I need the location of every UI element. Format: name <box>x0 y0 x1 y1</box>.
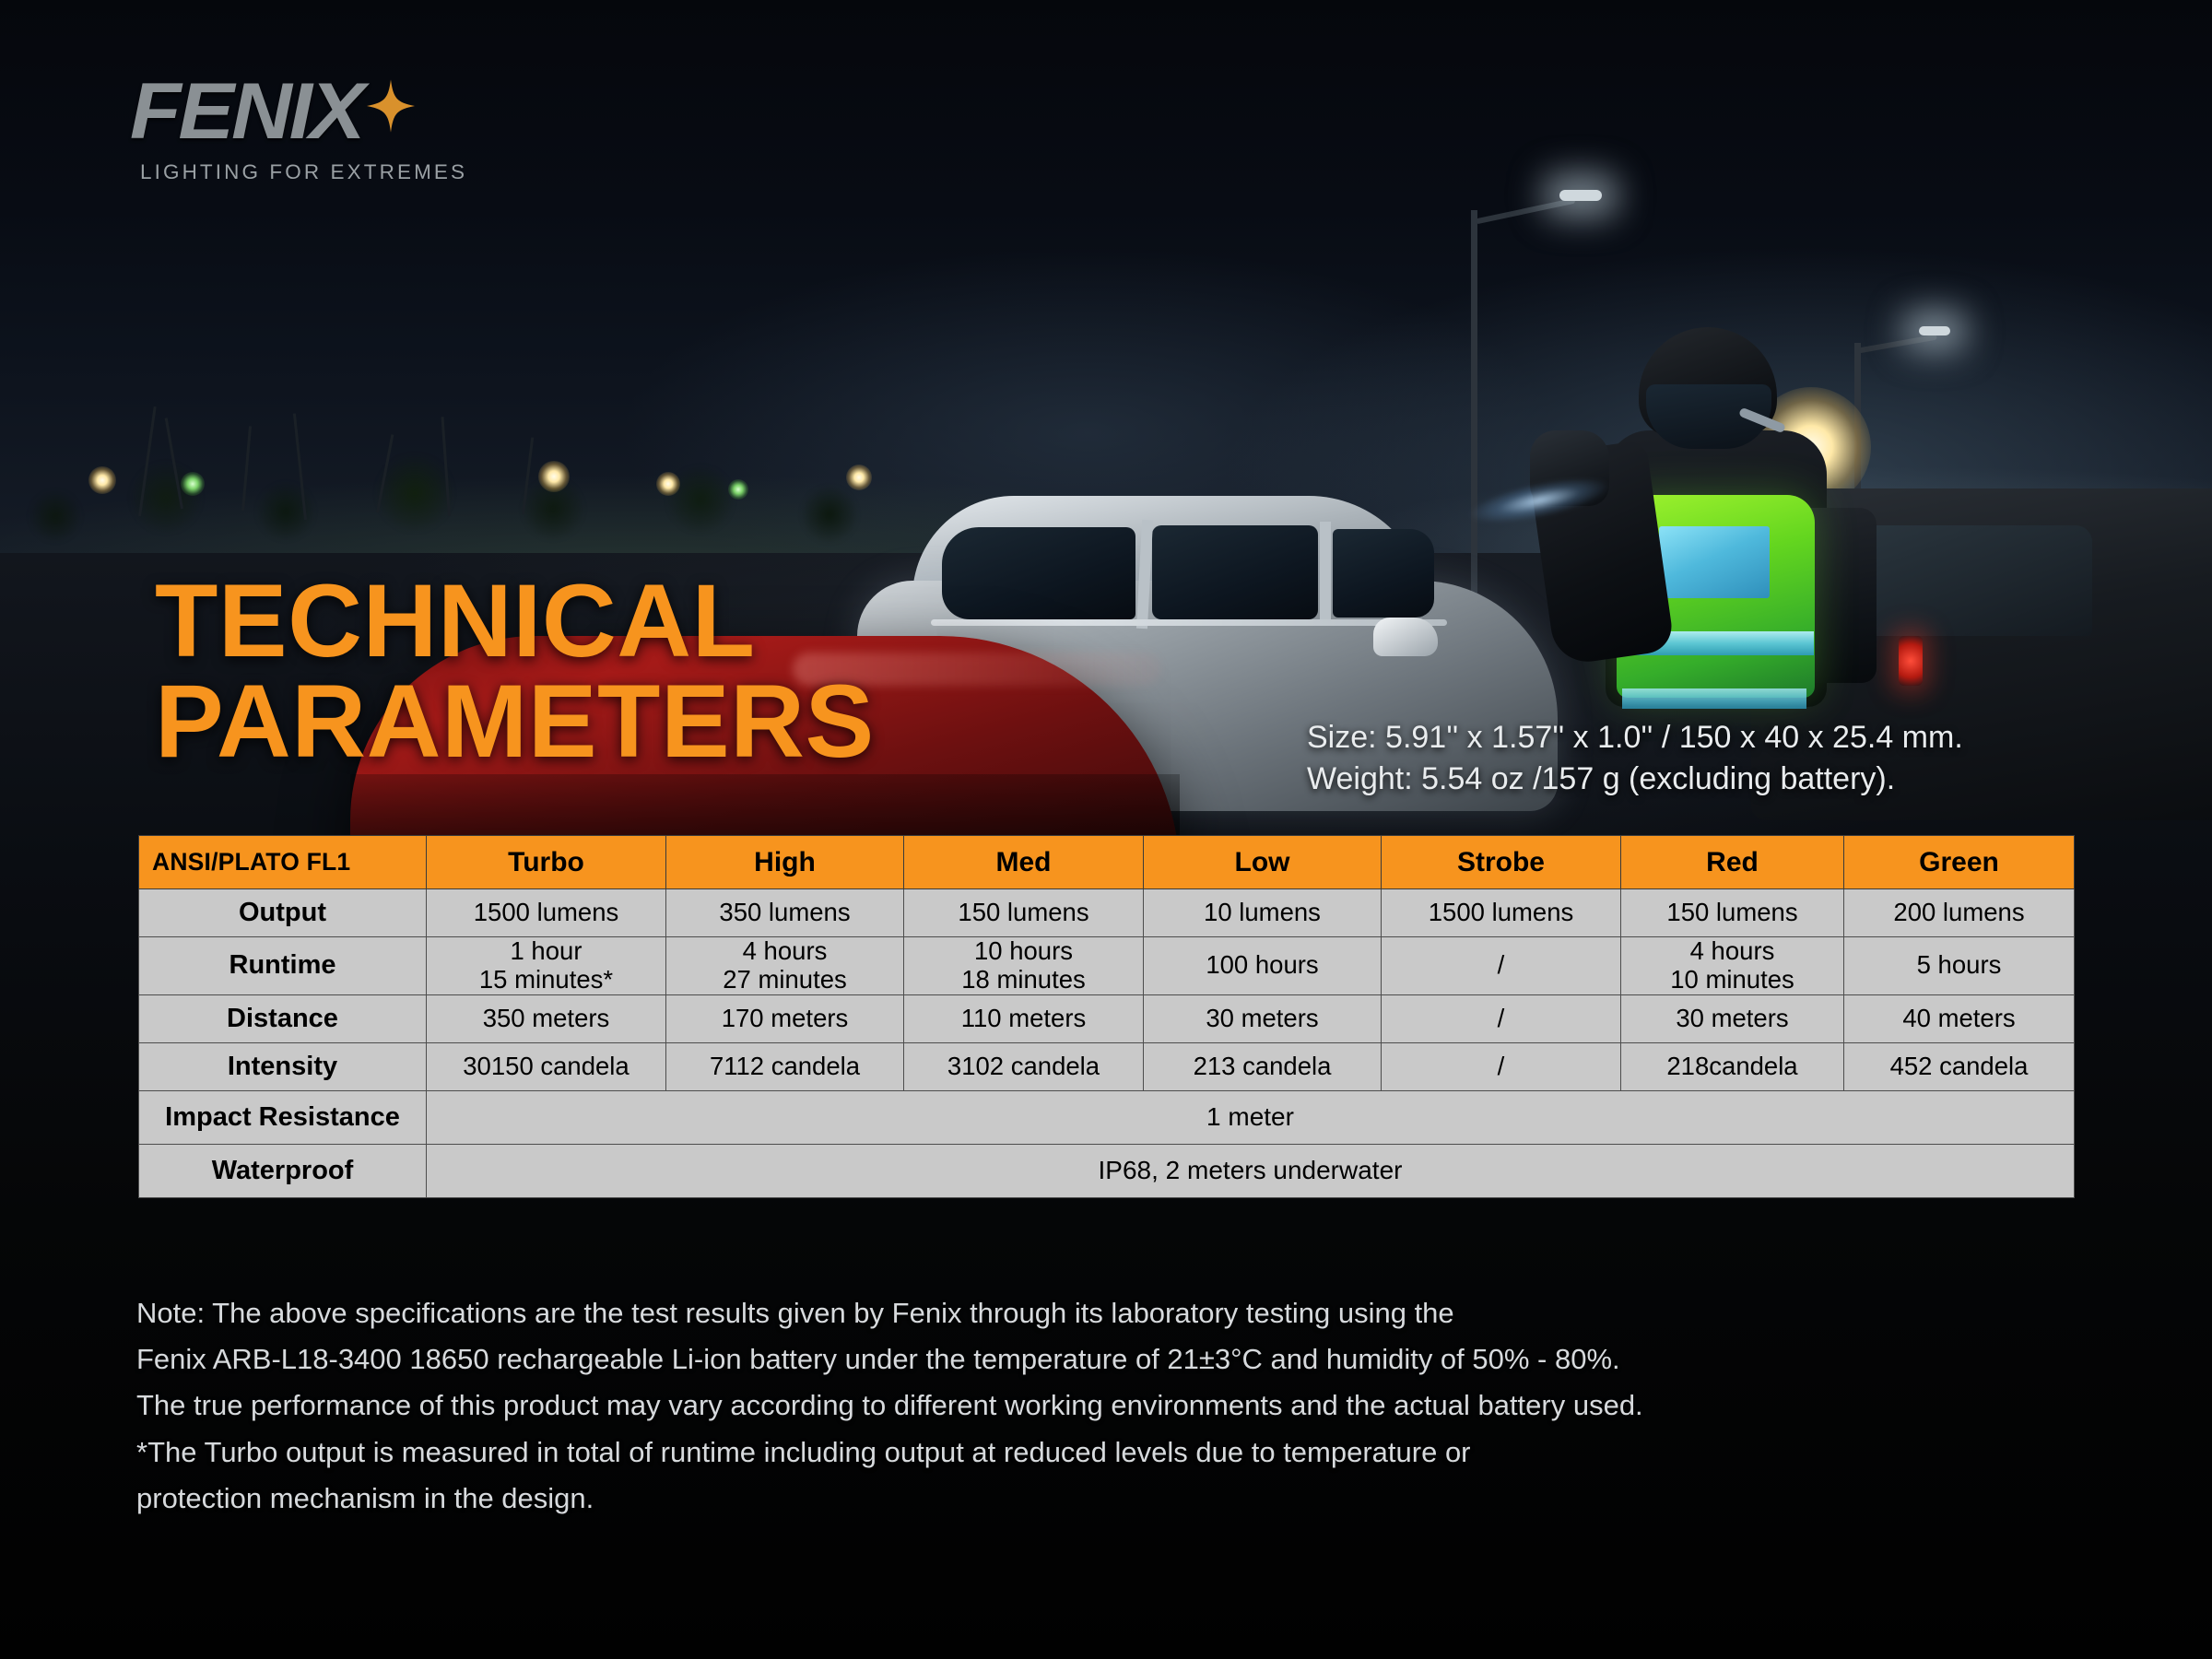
distant-street-light <box>88 466 116 494</box>
technical-parameters-table-wrapper: ANSI/PLATO FL1 Turbo High Med Low Strobe… <box>138 835 2074 1198</box>
row-label-runtime: Runtime <box>139 937 427 995</box>
cell-output-green: 200 lumens <box>1844 889 2075 937</box>
tail-light <box>1899 636 1923 686</box>
distant-street-light <box>538 461 570 492</box>
note-line: *The Turbo output is measured in total o… <box>136 1430 2090 1476</box>
technical-parameters-table: ANSI/PLATO FL1 Turbo High Med Low Strobe… <box>138 835 2075 1198</box>
page-title: TECHNICAL PARAMETERS <box>155 571 1261 771</box>
cell-output-high: 350 lumens <box>666 889 904 937</box>
cell-runtime-med: 10 hours18 minutes <box>904 937 1144 995</box>
cell-output-strobe: 1500 lumens <box>1382 889 1621 937</box>
cell-intensity-red: 218candela <box>1621 1042 1844 1090</box>
row-label-impact-resistance: Impact Resistance <box>139 1090 427 1144</box>
cell-output-turbo: 1500 lumens <box>427 889 666 937</box>
page-title-line2: PARAMETERS <box>155 672 1261 772</box>
distant-street-light <box>656 472 680 496</box>
star-icon <box>367 79 415 133</box>
weight-text: Weight: 5.54 oz /157 g (excluding batter… <box>1307 759 2100 800</box>
distant-green-light <box>728 479 748 500</box>
cell-distance-low: 30 meters <box>1144 994 1382 1042</box>
cell-distance-green: 40 meters <box>1844 994 2075 1042</box>
cell-intensity-med: 3102 candela <box>904 1042 1144 1090</box>
row-label-distance: Distance <box>139 994 427 1042</box>
table-row: Impact Resistance 1 meter <box>139 1090 2075 1144</box>
column-header-high: High <box>666 836 904 889</box>
note-line: The true performance of this product may… <box>136 1382 2090 1429</box>
page-title-line1: TECHNICAL <box>155 563 756 678</box>
column-header-turbo: Turbo <box>427 836 666 889</box>
column-header-green: Green <box>1844 836 2075 889</box>
cell-distance-strobe: / <box>1382 994 1621 1042</box>
cell-output-med: 150 lumens <box>904 889 1144 937</box>
note-line: Note: The above specifications are the t… <box>136 1290 2090 1336</box>
cell-runtime-red: 4 hours10 minutes <box>1621 937 1844 995</box>
row-label-intensity: Intensity <box>139 1042 427 1090</box>
cell-distance-high: 170 meters <box>666 994 904 1042</box>
note-line: protection mechanism in the design. <box>136 1476 2090 1522</box>
cell-intensity-green: 452 candela <box>1844 1042 2075 1090</box>
table-row: Output 1500 lumens 350 lumens 150 lumens… <box>139 889 2075 937</box>
silver-car-pillar <box>1320 522 1331 625</box>
brand-tagline: LIGHTING FOR EXTREMES <box>140 160 467 184</box>
note-block: Note: The above specifications are the t… <box>136 1290 2090 1522</box>
treeline <box>0 406 922 571</box>
cell-output-low: 10 lumens <box>1144 889 1382 937</box>
column-header-standard: ANSI/PLATO FL1 <box>139 836 427 889</box>
silver-car-mirror <box>1373 618 1438 656</box>
row-label-waterproof: Waterproof <box>139 1144 427 1197</box>
cell-distance-turbo: 350 meters <box>427 994 666 1042</box>
vest-reflective-band <box>1622 688 1806 709</box>
table-row: Distance 350 meters 170 meters 110 meter… <box>139 994 2075 1042</box>
street-lamp-head <box>1919 326 1950 335</box>
cell-runtime-strobe: / <box>1382 937 1621 995</box>
distant-green-light <box>181 472 205 496</box>
cell-distance-med: 110 meters <box>904 994 1144 1042</box>
cell-intensity-low: 213 candela <box>1144 1042 1382 1090</box>
brand-name: FENIX <box>130 72 363 151</box>
table-header-row: ANSI/PLATO FL1 Turbo High Med Low Strobe… <box>139 836 2075 889</box>
cell-impact-resistance-value: 1 meter <box>427 1090 2075 1144</box>
silver-car-rear-window <box>1333 529 1434 618</box>
table-row: Runtime 1 hour15 minutes* 4 hours27 minu… <box>139 937 2075 995</box>
cell-distance-red: 30 meters <box>1621 994 1844 1042</box>
technical-parameters-page: FENIX LIGHTING FOR EXTREMES TECHNICAL PA… <box>0 0 2212 1659</box>
table-row: Intensity 30150 candela 7112 candela 310… <box>139 1042 2075 1090</box>
cell-runtime-high: 4 hours27 minutes <box>666 937 904 995</box>
column-header-red: Red <box>1621 836 1844 889</box>
fenix-logo: FENIX LIGHTING FOR EXTREMES <box>136 72 524 192</box>
size-text: Size: 5.91'' x 1.57'' x 1.0'' / 150 x 40… <box>1307 717 2100 759</box>
cell-output-red: 150 lumens <box>1621 889 1844 937</box>
column-header-low: Low <box>1144 836 1382 889</box>
cell-intensity-turbo: 30150 candela <box>427 1042 666 1090</box>
size-weight-block: Size: 5.91'' x 1.57'' x 1.0'' / 150 x 40… <box>1307 717 2100 800</box>
table-row: Waterproof IP68, 2 meters underwater <box>139 1144 2075 1197</box>
row-label-output: Output <box>139 889 427 937</box>
vest-reflective-patch <box>1659 526 1770 598</box>
cell-intensity-high: 7112 candela <box>666 1042 904 1090</box>
cell-waterproof-value: IP68, 2 meters underwater <box>427 1144 2075 1197</box>
cell-runtime-green: 5 hours <box>1844 937 2075 995</box>
cell-runtime-low: 100 hours <box>1144 937 1382 995</box>
street-lamp-head <box>1559 190 1602 201</box>
note-line: Fenix ARB-L18-3400 18650 rechargeable Li… <box>136 1336 2090 1382</box>
column-header-med: Med <box>904 836 1144 889</box>
cell-intensity-strobe: / <box>1382 1042 1621 1090</box>
table-body: Output 1500 lumens 350 lumens 150 lumens… <box>139 889 2075 1198</box>
column-header-strobe: Strobe <box>1382 836 1621 889</box>
table-header: ANSI/PLATO FL1 Turbo High Med Low Strobe… <box>139 836 2075 889</box>
cell-runtime-turbo: 1 hour15 minutes* <box>427 937 666 995</box>
